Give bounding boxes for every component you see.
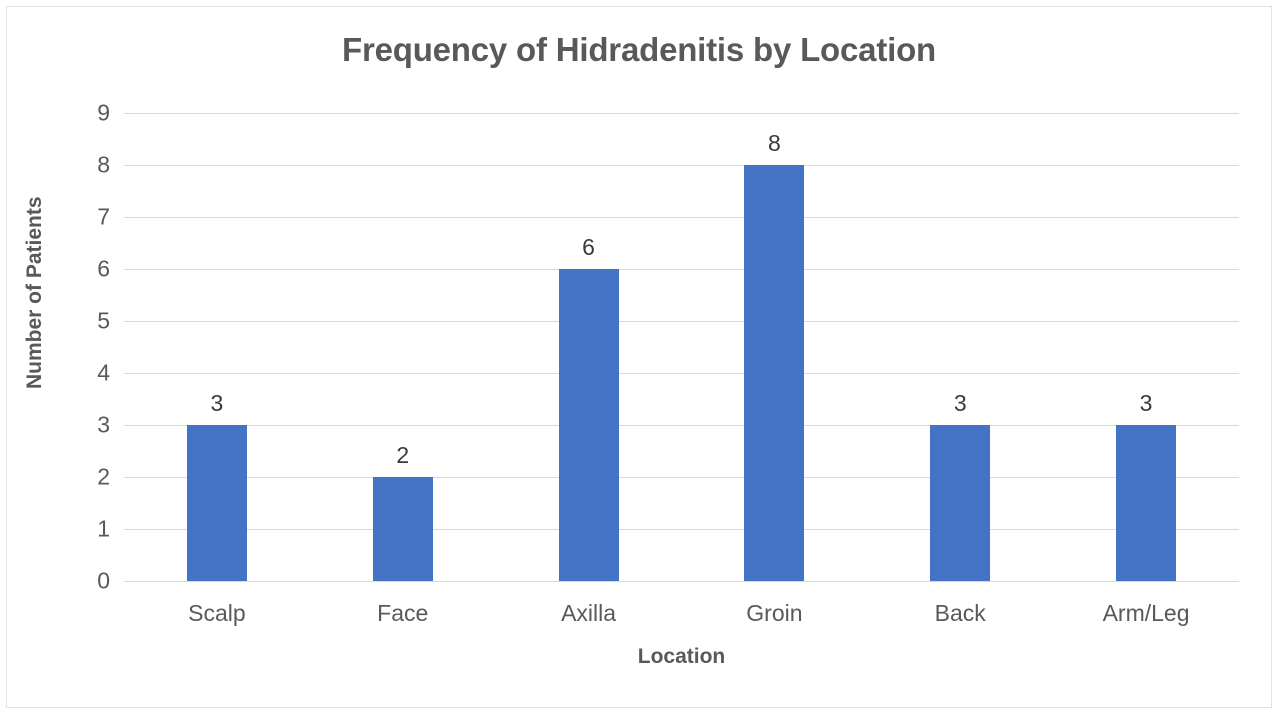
x-axis-category-label: Back bbox=[935, 600, 986, 627]
bar[interactable] bbox=[373, 477, 433, 581]
bar[interactable] bbox=[744, 165, 804, 581]
bar-group: 2Face bbox=[310, 113, 496, 581]
y-axis-tick-label: 0 bbox=[97, 568, 110, 595]
x-axis-category-label: Axilla bbox=[561, 600, 616, 627]
bar[interactable] bbox=[1116, 425, 1176, 581]
chart-container: Frequency of Hidradenitis by Location Nu… bbox=[6, 6, 1272, 708]
x-axis-category-label: Scalp bbox=[188, 600, 246, 627]
y-axis-tick-label: 1 bbox=[97, 516, 110, 543]
plot-area: 0123456789 3Scalp2Face6Axilla8Groin3Back… bbox=[124, 113, 1239, 581]
bar-value-label: 6 bbox=[582, 234, 595, 261]
y-axis-tick-label: 3 bbox=[97, 412, 110, 439]
bar[interactable] bbox=[930, 425, 990, 581]
x-axis-category-label: Arm/Leg bbox=[1103, 600, 1190, 627]
bar-value-label: 3 bbox=[211, 390, 224, 417]
bar-value-label: 3 bbox=[954, 390, 967, 417]
chart-title: Frequency of Hidradenitis by Location bbox=[7, 31, 1271, 69]
bar[interactable] bbox=[187, 425, 247, 581]
bar-value-label: 2 bbox=[396, 442, 409, 469]
y-axis-tick-label: 9 bbox=[97, 100, 110, 127]
gridline bbox=[124, 581, 1239, 582]
y-axis-title: Number of Patients bbox=[23, 209, 47, 389]
bar-value-label: 3 bbox=[1140, 390, 1153, 417]
bar-group: 3Back bbox=[867, 113, 1053, 581]
y-axis-tick-label: 6 bbox=[97, 256, 110, 283]
y-axis-tick-label: 7 bbox=[97, 204, 110, 231]
bar[interactable] bbox=[559, 269, 619, 581]
bar-group: 3Arm/Leg bbox=[1053, 113, 1239, 581]
bar-group: 3Scalp bbox=[124, 113, 310, 581]
x-axis-category-label: Face bbox=[377, 600, 428, 627]
x-axis-category-label: Groin bbox=[746, 600, 802, 627]
bar-series: 3Scalp2Face6Axilla8Groin3Back3Arm/Leg bbox=[124, 113, 1239, 581]
y-axis-tick-label: 5 bbox=[97, 308, 110, 335]
y-axis-tick-label: 2 bbox=[97, 464, 110, 491]
x-axis-title: Location bbox=[124, 645, 1239, 669]
bar-group: 6Axilla bbox=[496, 113, 682, 581]
y-axis-tick-label: 4 bbox=[97, 360, 110, 387]
bar-value-label: 8 bbox=[768, 130, 781, 157]
bar-group: 8Groin bbox=[682, 113, 868, 581]
y-axis-tick-label: 8 bbox=[97, 152, 110, 179]
